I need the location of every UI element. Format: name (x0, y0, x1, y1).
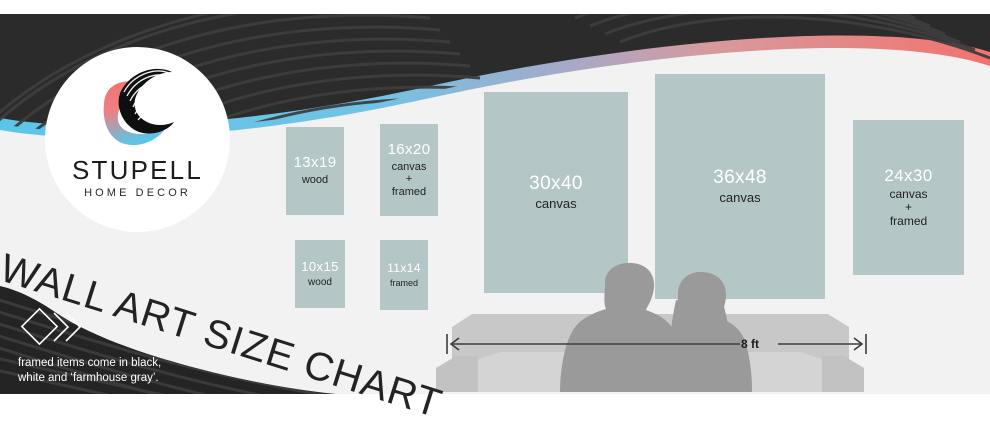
note-line-1: framed items come in black, (18, 356, 161, 371)
wall-art-size-chart-infographic: STUPELL HOME DECOR WALL ART SIZE CHART f… (0, 0, 990, 422)
sofa-arm-right (822, 356, 864, 392)
person-left-silhouette (560, 263, 684, 392)
brand-logo: STUPELL HOME DECOR (45, 47, 230, 232)
person-right-silhouette (667, 272, 752, 392)
measurement-label: 8 ft (741, 337, 759, 351)
brand-name: STUPELL (45, 155, 230, 186)
note-line-2: white and ‘farmhouse gray’. (18, 371, 161, 386)
framed-items-note: framed items come in black, white and ‘f… (18, 356, 161, 386)
diamond-chevron-icon (18, 305, 86, 349)
stupell-swoosh-logo-icon (97, 58, 182, 151)
brand-tagline: HOME DECOR (45, 187, 230, 199)
